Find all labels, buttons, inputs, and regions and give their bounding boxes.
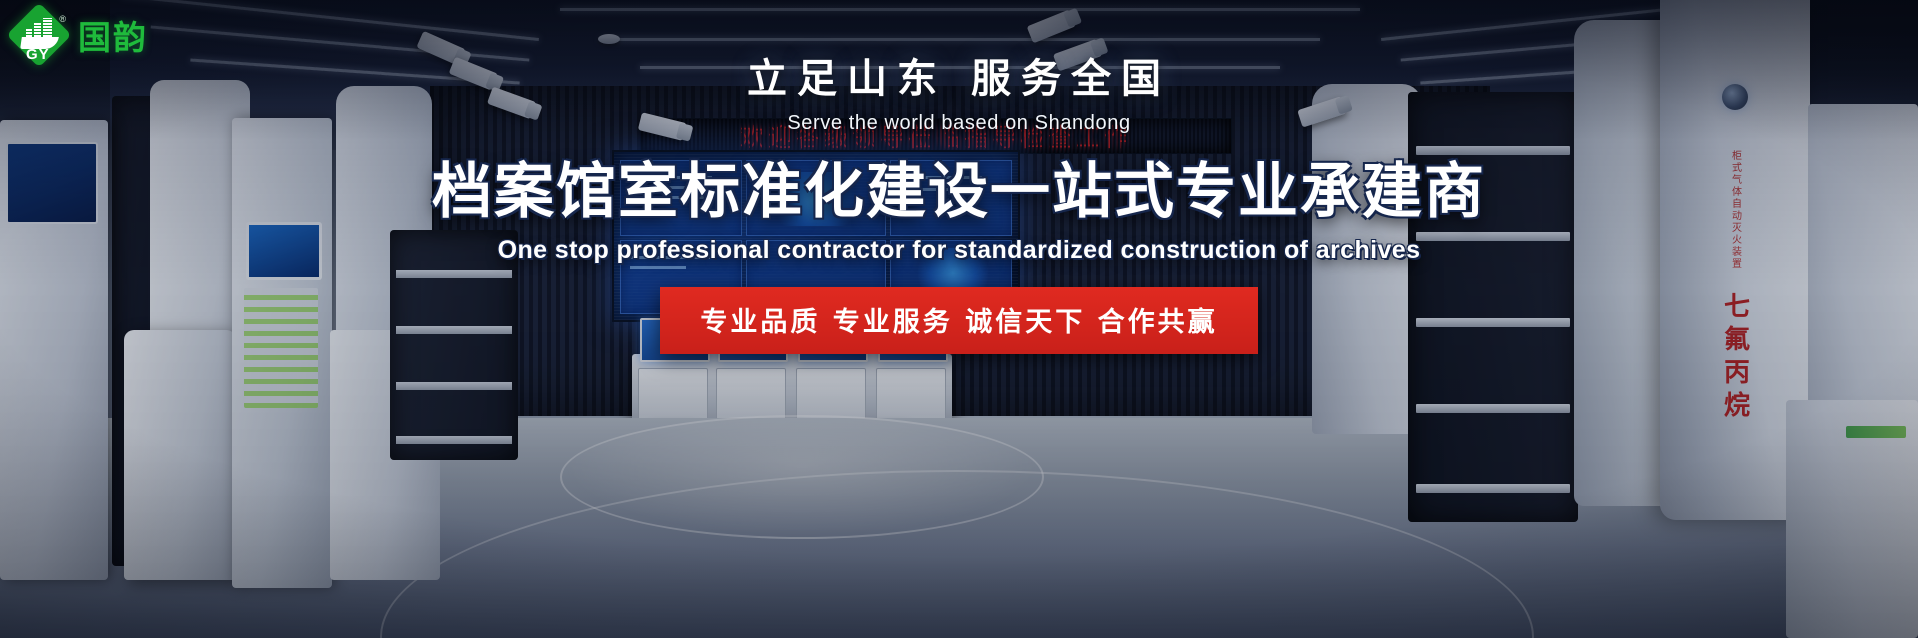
mobile-dehumidifier: [124, 330, 236, 580]
tagline-cn: 立足山东 服务全国: [0, 46, 1918, 104]
logo-initials: GY: [26, 46, 50, 63]
headline-cn: 档案馆室标准化建设一站式专业承建商: [0, 143, 1918, 230]
banner-hero: 欢迎各级领导莅临指导检查工作: [0, 0, 1918, 638]
brand-name: 国韵: [78, 11, 148, 59]
cta-slogan-button[interactable]: 专业品质 专业服务 诚信天下 合作共赢: [660, 287, 1257, 354]
brand-logo[interactable]: GY ® 国韵: [10, 6, 148, 64]
brand-strip-icon: [1846, 426, 1906, 438]
hero-copy: 立足山东 服务全国 Serve the world based on Shand…: [0, 0, 1918, 354]
tagline-en: Serve the world based on Shandong: [0, 112, 1918, 135]
dehumidifier-right: [1786, 400, 1918, 638]
gy-diamond-building-logo-icon: GY ®: [10, 6, 68, 64]
registered-mark: ®: [59, 14, 66, 24]
headline-en: One stop professional contractor for sta…: [0, 236, 1918, 265]
